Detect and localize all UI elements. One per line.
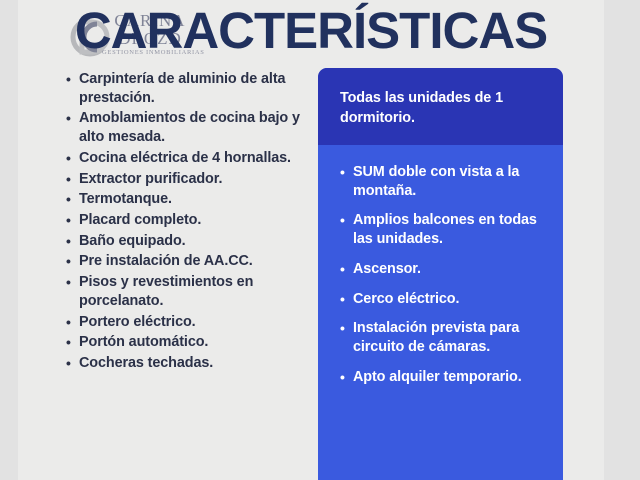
list-item: Amplios balcones en todas las unidades.: [340, 211, 549, 248]
list-item: Extractor purificador.: [66, 170, 326, 189]
poster-canvas: CARINA DROZD GESTIONES INMOBILIARIAS CAR…: [18, 0, 604, 480]
list-item: Placard completo.: [66, 211, 326, 230]
amenities-panel-heading: Todas las unidades de 1 dormitorio.: [340, 88, 543, 129]
list-item: Apto alquiler temporario.: [340, 368, 549, 387]
list-item: Amoblamientos de cocina bajo y alto mesa…: [66, 109, 326, 146]
list-item: Cerco eléctrico.: [340, 290, 549, 309]
list-item: Cocheras techadas.: [66, 354, 326, 373]
amenities-panel-header: Todas las unidades de 1 dormitorio.: [318, 68, 563, 145]
list-item: Instalación prevista para circuito de cá…: [340, 319, 549, 356]
poster-root: CARINA DROZD GESTIONES INMOBILIARIAS CAR…: [0, 0, 640, 480]
list-item: Pisos y revestimientos en porcelanato.: [66, 273, 326, 310]
list-item: Pre instalación de AA.CC.: [66, 252, 326, 271]
list-item: Ascensor.: [340, 260, 549, 279]
list-item: Cocina eléctrica de 4 hornallas.: [66, 149, 326, 168]
list-item: Baño equipado.: [66, 232, 326, 251]
list-item: Termotanque.: [66, 190, 326, 209]
left-feature-list: Carpintería de aluminio de alta prestaci…: [66, 70, 326, 375]
page-title: CARACTERÍSTICAS: [18, 4, 604, 58]
amenities-panel: Todas las unidades de 1 dormitorio. SUM …: [318, 68, 563, 480]
list-item: Carpintería de aluminio de alta prestaci…: [66, 70, 326, 107]
list-item: Portón automático.: [66, 333, 326, 352]
amenities-list: SUM doble con vista a la montaña. Amplio…: [318, 145, 563, 386]
list-item: SUM doble con vista a la montaña.: [340, 163, 549, 200]
list-item: Portero eléctrico.: [66, 313, 326, 332]
